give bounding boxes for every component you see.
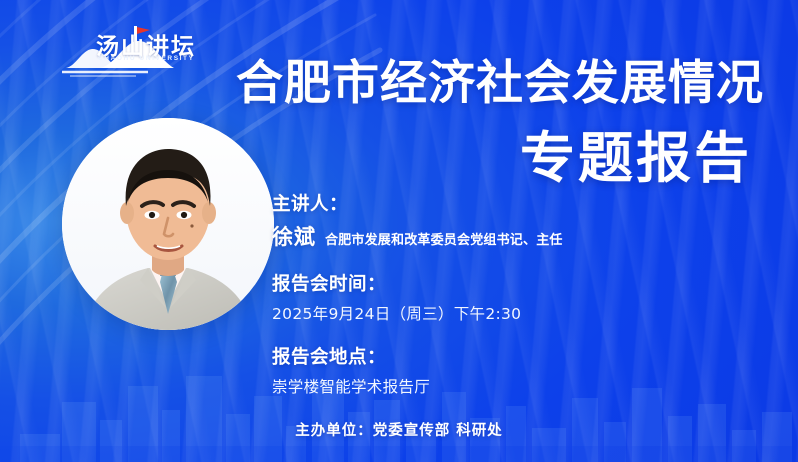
logo-name-en: CHAOHU UNIVERSITY bbox=[98, 55, 195, 62]
speaker-title: 合肥市发展和改革委员会党组书记、主任 bbox=[325, 229, 563, 248]
time-block: 报告会时间： 2025年9月24日（周三）下午2:30 bbox=[272, 270, 712, 324]
speaker-row: 徐斌 合肥市发展和改革委员会党组书记、主任 bbox=[272, 221, 712, 251]
venue-label: 报告会地点： bbox=[272, 343, 712, 369]
speaker-label: 主讲人： bbox=[272, 190, 712, 216]
page-title-line1: 合肥市经济社会发展情况 bbox=[236, 60, 764, 107]
event-poster: 汤山讲坛 CHAOHU UNIVERSITY bbox=[0, 0, 798, 462]
organizer-footer: 主办单位：党委宣传部 科研处 bbox=[0, 419, 798, 440]
venue-value: 崇学楼智能学术报告厅 bbox=[272, 375, 712, 397]
page-title-line2: 专题报告 bbox=[520, 131, 752, 186]
time-label: 报告会时间： bbox=[272, 270, 712, 296]
time-value: 2025年9月24日（周三）下午2:30 bbox=[272, 302, 712, 324]
speaker-name: 徐斌 bbox=[272, 221, 316, 251]
event-details: 主讲人： 徐斌 合肥市发展和改革委员会党组书记、主任 报告会时间： 2025年9… bbox=[272, 190, 712, 397]
venue-block: 报告会地点： 崇学楼智能学术报告厅 bbox=[272, 343, 712, 397]
speaker-portrait bbox=[62, 118, 274, 330]
